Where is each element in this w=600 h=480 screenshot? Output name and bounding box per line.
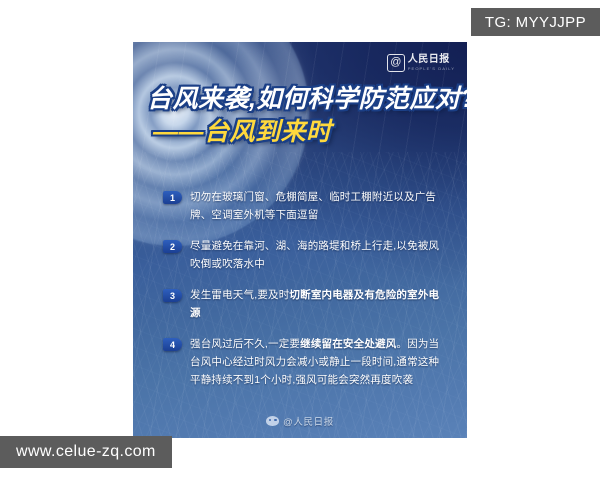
tip-item: 3发生雷电天气,要及时切断室内电器及有危险的室外电源 <box>163 286 441 322</box>
tip-number-badge: 4 <box>163 338 182 351</box>
poster-title-sub: ——台风到来时 <box>153 119 457 145</box>
weibo-credit: @人民日报 <box>133 414 467 428</box>
tip-text-emphasis: 继续留在安全处避风 <box>300 338 396 350</box>
brand-name-cn: 人民日报 <box>408 55 455 65</box>
tip-text-segment: 切勿在玻璃门窗、危棚简屋、临时工棚附近以及广告牌、空调室外机等下面逗留 <box>190 191 436 221</box>
brand-names: 人民日报 PEOPLE'S DAILY <box>408 55 455 71</box>
tip-number-badge: 3 <box>163 289 182 302</box>
poster-title-block: 台风来袭,如何科学防范应对? ——台风到来时 <box>147 86 457 146</box>
safety-tips-list: 1切勿在玻璃门窗、危棚简屋、临时工棚附近以及广告牌、空调室外机等下面逗留2尽量避… <box>163 188 441 402</box>
tip-text: 发生雷电天气,要及时切断室内电器及有危险的室外电源 <box>190 286 441 322</box>
at-symbol-icon: @ <box>387 54 405 72</box>
brand-name-en: PEOPLE'S DAILY <box>408 67 455 71</box>
tip-number-badge: 2 <box>163 240 182 253</box>
tip-text-segment: 尽量避免在靠河、湖、海的路堤和桥上行走,以免被风吹倒或吹落水中 <box>190 240 439 270</box>
tip-text-segment: 强台风过后不久,一定要 <box>190 338 300 350</box>
tip-item: 4强台风过后不久,一定要继续留在安全处避风。因为当台风中心经过时风力会减小或静止… <box>163 335 441 389</box>
tip-item: 1切勿在玻璃门窗、危棚简屋、临时工棚附近以及广告牌、空调室外机等下面逗留 <box>163 188 441 224</box>
site-watermark: www.celue-zq.com <box>0 436 172 468</box>
telegram-watermark: TG: MYYJJPP <box>471 8 600 36</box>
tip-text: 切勿在玻璃门窗、危棚简屋、临时工棚附近以及广告牌、空调室外机等下面逗留 <box>190 188 441 224</box>
tip-text: 尽量避免在靠河、湖、海的路堤和桥上行走,以免被风吹倒或吹落水中 <box>190 237 441 273</box>
tip-text-segment: 发生雷电天气,要及时 <box>190 289 289 301</box>
typhoon-safety-poster: @ 人民日报 PEOPLE'S DAILY 台风来袭,如何科学防范应对? ——台… <box>133 42 467 438</box>
tip-text: 强台风过后不久,一定要继续留在安全处避风。因为当台风中心经过时风力会减小或静止一… <box>190 335 441 389</box>
poster-title-main: 台风来袭,如何科学防范应对? <box>147 86 457 112</box>
tip-item: 2尽量避免在靠河、湖、海的路堤和桥上行走,以免被风吹倒或吹落水中 <box>163 237 441 273</box>
weibo-credit-text: @人民日报 <box>283 414 334 428</box>
weibo-icon <box>266 416 279 426</box>
peoples-daily-logo: @ 人民日报 PEOPLE'S DAILY <box>387 54 455 72</box>
tip-number-badge: 1 <box>163 191 182 204</box>
